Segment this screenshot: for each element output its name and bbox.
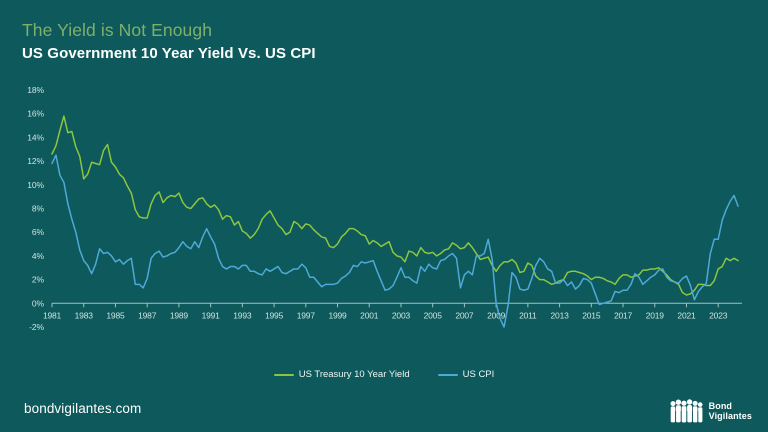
y-axis-tick-label: 14% (27, 132, 44, 142)
x-axis-tick-label: 2021 (677, 310, 696, 320)
x-axis: 1981198319851987198919911993199519971999… (43, 303, 742, 320)
legend-label: US CPI (463, 369, 495, 380)
y-axis-tick-label: 0% (32, 298, 45, 308)
x-axis-tick-label: 2001 (360, 310, 379, 320)
x-axis-tick-label: 2019 (646, 310, 665, 320)
brand-name-line2: Vigilantes (709, 411, 752, 422)
x-axis-tick-label: 2023 (709, 310, 728, 320)
y-axis-tick-label: 2% (32, 275, 45, 285)
chart-container: 18%16%14%12%10%8%6%4%2%0%-2% 19811983198… (0, 78, 768, 363)
legend-swatch (274, 374, 294, 376)
title-block: The Yield is Not Enough US Government 10… (22, 20, 622, 64)
x-axis-tick-label: 1985 (106, 310, 125, 320)
x-axis-tick-label: 2003 (392, 310, 411, 320)
x-axis-tick-label: 1989 (170, 310, 189, 320)
page-subtitle: US Government 10 Year Yield Vs. US CPI (22, 44, 622, 64)
x-axis-tick-label: 2015 (582, 310, 601, 320)
y-axis-tick-label: 4% (32, 251, 45, 261)
y-axis-tick-label: 8% (32, 204, 45, 214)
line-chart: 18%16%14%12%10%8%6%4%2%0%-2% 19811983198… (0, 78, 768, 363)
y-axis-tick-label: 16% (27, 109, 44, 119)
y-axis-tick-label: 12% (27, 156, 44, 166)
bond-vigilantes-logo: Bond Vigilantes (669, 398, 752, 424)
brand-name: Bond Vigilantes (709, 401, 752, 422)
x-axis-tick-label: 2005 (424, 310, 443, 320)
x-axis-tick-label: 1991 (202, 310, 221, 320)
chart-series-group (52, 116, 738, 327)
x-axis-tick-label: 2011 (519, 310, 537, 320)
y-axis-tick-label: 6% (32, 227, 45, 237)
y-axis-tick-label: 10% (27, 180, 44, 190)
y-axis-tick-label: 18% (27, 85, 44, 95)
x-axis-tick-label: 1983 (75, 310, 94, 320)
x-axis-tick-label: 1997 (297, 310, 316, 320)
page-title: The Yield is Not Enough (22, 20, 622, 41)
x-axis-tick-label: 2009 (487, 310, 506, 320)
slide-root: The Yield is Not Enough US Government 10… (0, 0, 768, 432)
x-axis-tick-label: 1981 (43, 310, 62, 320)
legend-item[interactable]: US Treasury 10 Year Yield (274, 369, 410, 380)
website-url[interactable]: bondvigilantes.com (24, 401, 141, 416)
legend-swatch (438, 374, 458, 376)
legend-label: US Treasury 10 Year Yield (299, 369, 410, 380)
x-axis-tick-label: 1999 (328, 310, 347, 320)
y-axis: 18%16%14%12%10%8%6%4%2%0%-2% (27, 85, 44, 332)
legend-item[interactable]: US CPI (438, 369, 495, 380)
x-axis-tick-label: 1993 (233, 310, 252, 320)
x-axis-tick-label: 2017 (614, 310, 633, 320)
footer: bondvigilantes.com (0, 392, 768, 432)
series-line (52, 116, 738, 295)
x-axis-tick-label: 2013 (551, 310, 570, 320)
x-axis-tick-label: 1995 (265, 310, 284, 320)
people-group-icon (669, 398, 703, 424)
x-axis-tick-label: 1987 (138, 310, 157, 320)
series-line (52, 155, 738, 327)
y-axis-tick-label: -2% (29, 322, 44, 332)
brand-name-line1: Bond (709, 401, 752, 412)
chart-legend: US Treasury 10 Year YieldUS CPI (0, 369, 768, 380)
x-axis-tick-label: 2007 (455, 310, 474, 320)
